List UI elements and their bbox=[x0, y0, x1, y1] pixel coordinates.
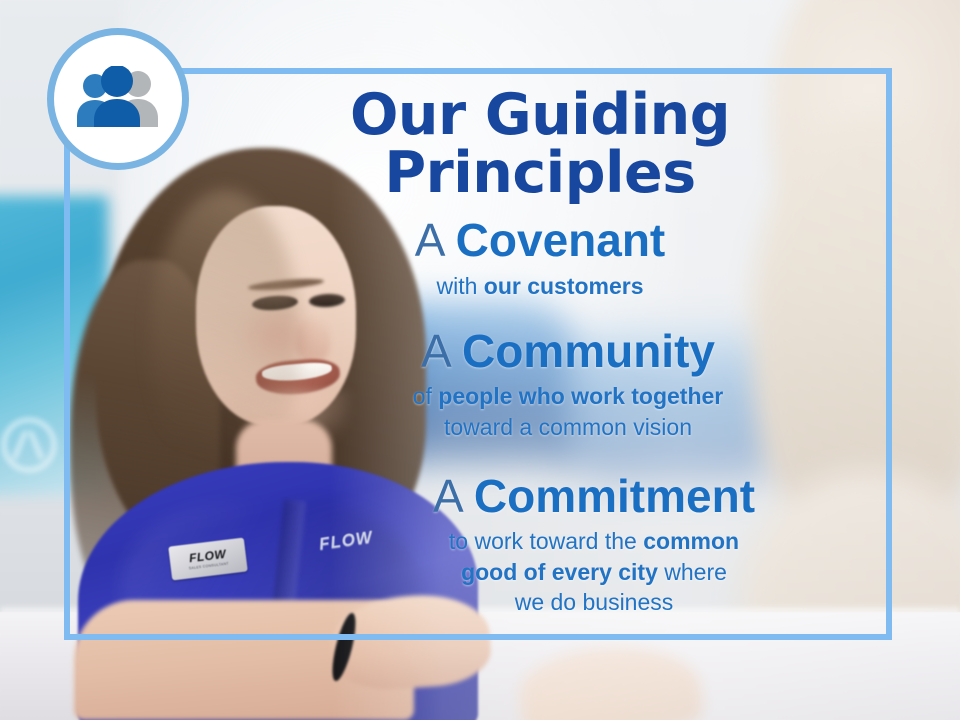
principle-commitment-heading: A Commitment bbox=[200, 472, 880, 520]
people-group-icon bbox=[68, 66, 168, 132]
covenant-sub-lead: with bbox=[436, 273, 483, 299]
principle-covenant-subtext: with our customers bbox=[200, 271, 880, 301]
principle-commitment-keyword: Commitment bbox=[474, 470, 755, 522]
principle-community-article: A bbox=[421, 325, 462, 377]
community-sub-bold: people who work together bbox=[438, 383, 723, 409]
principle-community: A Community of people who work together … bbox=[200, 327, 880, 442]
community-sub-lead: of bbox=[413, 383, 439, 409]
covenant-sub-bold: our customers bbox=[484, 273, 644, 299]
commitment-sub-line3: we do business bbox=[515, 589, 674, 615]
principle-covenant-keyword: Covenant bbox=[456, 214, 666, 266]
text-content-column: Our Guiding Principles A Covenant with o… bbox=[200, 86, 880, 617]
principle-commitment: A Commitment to work toward the common g… bbox=[200, 472, 880, 617]
vw-logo-blur-icon bbox=[2, 418, 56, 472]
principle-community-heading: A Community bbox=[200, 327, 880, 375]
principle-community-keyword: Community bbox=[462, 325, 715, 377]
commitment-sub-bold1: common bbox=[643, 528, 739, 554]
community-sub-line2: toward a common vision bbox=[444, 414, 692, 440]
principle-covenant-article: A bbox=[415, 214, 456, 266]
commitment-sub-bold2: good of every city bbox=[461, 559, 658, 585]
page-title: Our Guiding Principles bbox=[200, 86, 880, 202]
people-group-icon-badge bbox=[47, 28, 189, 170]
guiding-principles-graphic: FLOW SALES CONSULTANT FLOW Our Guiding P bbox=[0, 0, 960, 720]
commitment-sub-lead: to work toward the bbox=[449, 528, 643, 554]
principle-covenant: A Covenant with our customers bbox=[200, 216, 880, 301]
principle-covenant-heading: A Covenant bbox=[200, 216, 880, 264]
principle-commitment-article: A bbox=[433, 470, 474, 522]
commitment-sub-tail: where bbox=[658, 559, 727, 585]
principle-community-subtext: of people who work together toward a com… bbox=[200, 381, 880, 442]
principle-commitment-subtext: to work toward the common good of every … bbox=[200, 526, 880, 617]
